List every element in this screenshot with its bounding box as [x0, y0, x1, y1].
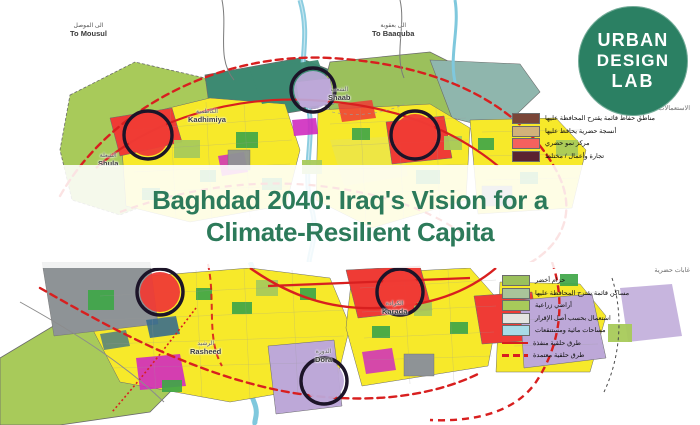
legend-item: مساكن قائمة يقترح المحافظة عليها	[502, 288, 692, 299]
legend-swatch	[512, 138, 540, 149]
legend-item: أراضي زراعية	[502, 300, 692, 311]
poster-canvas: الى الموصل To Mousul الى بعقوبة To Baaqu…	[0, 0, 700, 425]
legend-item-label: مركز نمو حضري	[545, 139, 590, 148]
place-label-shaab-english: Shaab	[328, 93, 351, 102]
place-label-shula-arabic: الشعلة	[98, 152, 118, 159]
legend-swatch	[502, 288, 530, 299]
legend-swatch	[502, 275, 530, 286]
direction-label-to-mousul: الى الموصل To Mousul	[70, 22, 107, 38]
logo-line-design: DESIGN	[597, 51, 669, 71]
place-label-rasheed-arabic: الرشيد	[190, 340, 221, 347]
place-label-shaab-arabic: الشعب	[328, 86, 351, 93]
direction-label-to-baaquba: الى بعقوبة To Baaquba	[372, 22, 414, 38]
legend-swatch-solid-line	[502, 339, 528, 348]
logo-line-lab: LAB	[612, 71, 655, 92]
legend-item-label: أنسجة حضرية يحافظ عليها	[545, 127, 616, 136]
legend-swatch	[502, 325, 530, 336]
legend-bottom-header: غابات حضرية	[502, 266, 692, 274]
legend-item-label: مساحات مائية ومستنقعات	[535, 326, 606, 335]
title-overlay-band: Baghdad 2040: Iraq's Vision for a Climat…	[0, 165, 700, 268]
place-label-dora: الدورة Dora	[315, 348, 332, 364]
legend-item-label: طرق حلقية معتمدة	[533, 351, 584, 360]
place-label-kadhimiya-arabic: الكاظمية	[188, 108, 226, 115]
place-label-karada: الكرادة Karada	[382, 300, 407, 316]
legend-bottom: غابات حضرية حزام أخضر مساكن قائمة يقترح …	[502, 266, 692, 363]
place-label-rasheed: الرشيد Rasheed	[190, 340, 221, 356]
legend-item-label: حزام أخضر	[535, 276, 565, 285]
legend-item-label: أراضي زراعية	[535, 301, 572, 310]
place-label-karada-english: Karada	[382, 307, 407, 316]
legend-item: حزام أخضر	[502, 275, 692, 286]
urban-design-lab-logo[interactable]: URBAN DESIGN LAB	[578, 6, 688, 116]
legend-swatch	[512, 113, 540, 124]
legend-item: استعمال بحسب أصل الإقرار	[502, 313, 692, 324]
place-label-karada-arabic: الكرادة	[382, 300, 407, 307]
legend-top: الاستعمالات مناطق حفاظ قائمة يقترح المحا…	[512, 104, 692, 163]
direction-label-to-baaquba-arabic: الى بعقوبة	[372, 22, 414, 29]
place-label-kadhimiya: الكاظمية Kadhimiya	[188, 108, 226, 124]
legend-item-label: مساكن قائمة يقترح المحافظة عليها	[535, 289, 629, 298]
legend-item: تجارة وأعمال / مختلط	[512, 151, 692, 162]
legend-item-label: طرق حلقية منفذة	[533, 339, 581, 348]
legend-item: مساحات مائية ومستنقعات	[502, 325, 692, 336]
page-title-line-2: Climate-Resilient Capita	[206, 217, 494, 249]
legend-item: طرق حلقية منفذة	[502, 338, 692, 349]
legend-item: طرق حلقية معتمدة	[502, 350, 692, 361]
place-label-dora-arabic: الدورة	[315, 348, 332, 355]
direction-label-to-mousul-arabic: الى الموصل	[70, 22, 107, 29]
legend-swatch	[512, 126, 540, 137]
place-label-dora-english: Dora	[315, 355, 332, 364]
legend-swatch-dashed-line	[502, 351, 528, 360]
legend-item: أنسجة حضرية يحافظ عليها	[512, 126, 692, 137]
legend-swatch	[502, 300, 530, 311]
legend-swatch	[512, 151, 540, 162]
page-title-line-1: Baghdad 2040: Iraq's Vision for a	[152, 185, 548, 217]
logo-line-urban: URBAN	[598, 30, 669, 51]
legend-item: مركز نمو حضري	[512, 138, 692, 149]
legend-swatch	[502, 313, 530, 324]
place-label-shaab: الشعب Shaab	[328, 86, 351, 102]
legend-item-label: تجارة وأعمال / مختلط	[545, 152, 604, 161]
legend-item: مناطق حفاظ قائمة يقترح المحافظة عليها	[512, 113, 692, 124]
place-label-kadhimiya-english: Kadhimiya	[188, 115, 226, 124]
direction-label-to-baaquba-english: To Baaquba	[372, 29, 414, 38]
direction-label-to-mousul-english: To Mousul	[70, 29, 107, 38]
place-label-rasheed-english: Rasheed	[190, 347, 221, 356]
legend-item-label: استعمال بحسب أصل الإقرار	[535, 314, 611, 323]
